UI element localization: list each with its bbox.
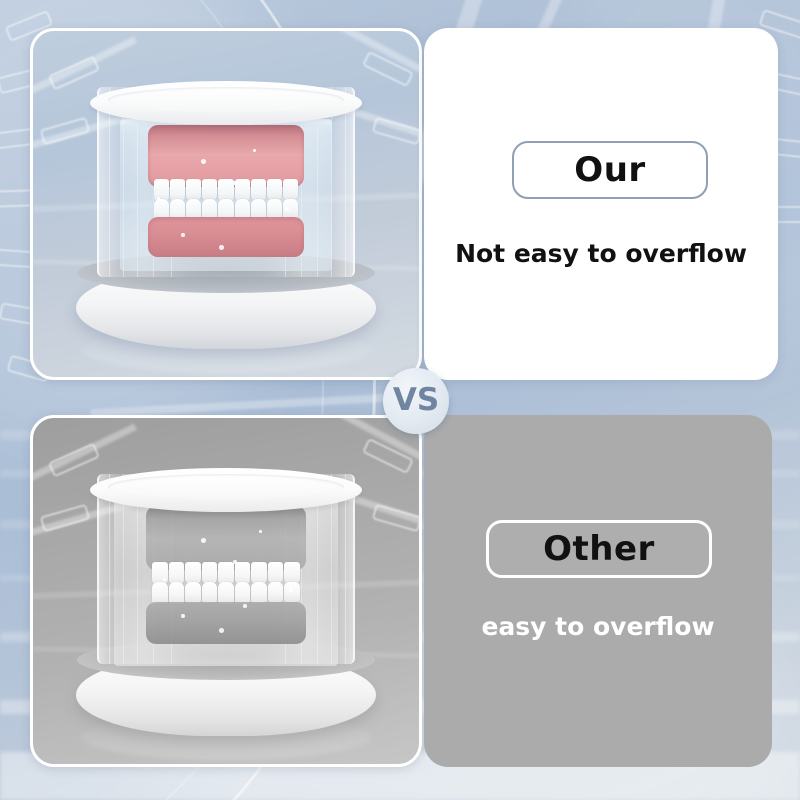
vs-badge: VS: [383, 368, 449, 434]
our-text-panel: Our Not easy to overflow: [424, 28, 778, 380]
our-badge: Our: [512, 141, 708, 199]
vs-badge-label: VS: [393, 385, 439, 416]
our-badge-label: Our: [574, 153, 645, 187]
other-caption: easy to overflow: [424, 613, 772, 641]
product-photo-our: [30, 28, 422, 380]
other-text-panel: Other easy to overflow: [424, 415, 772, 767]
product-photo-other: [30, 415, 422, 767]
our-caption: Not easy to overflow: [424, 240, 778, 268]
other-badge-label: Other: [543, 532, 655, 566]
other-badge: Other: [486, 520, 712, 578]
comparison-infographic: Our Not easy to overflow: [0, 0, 800, 800]
